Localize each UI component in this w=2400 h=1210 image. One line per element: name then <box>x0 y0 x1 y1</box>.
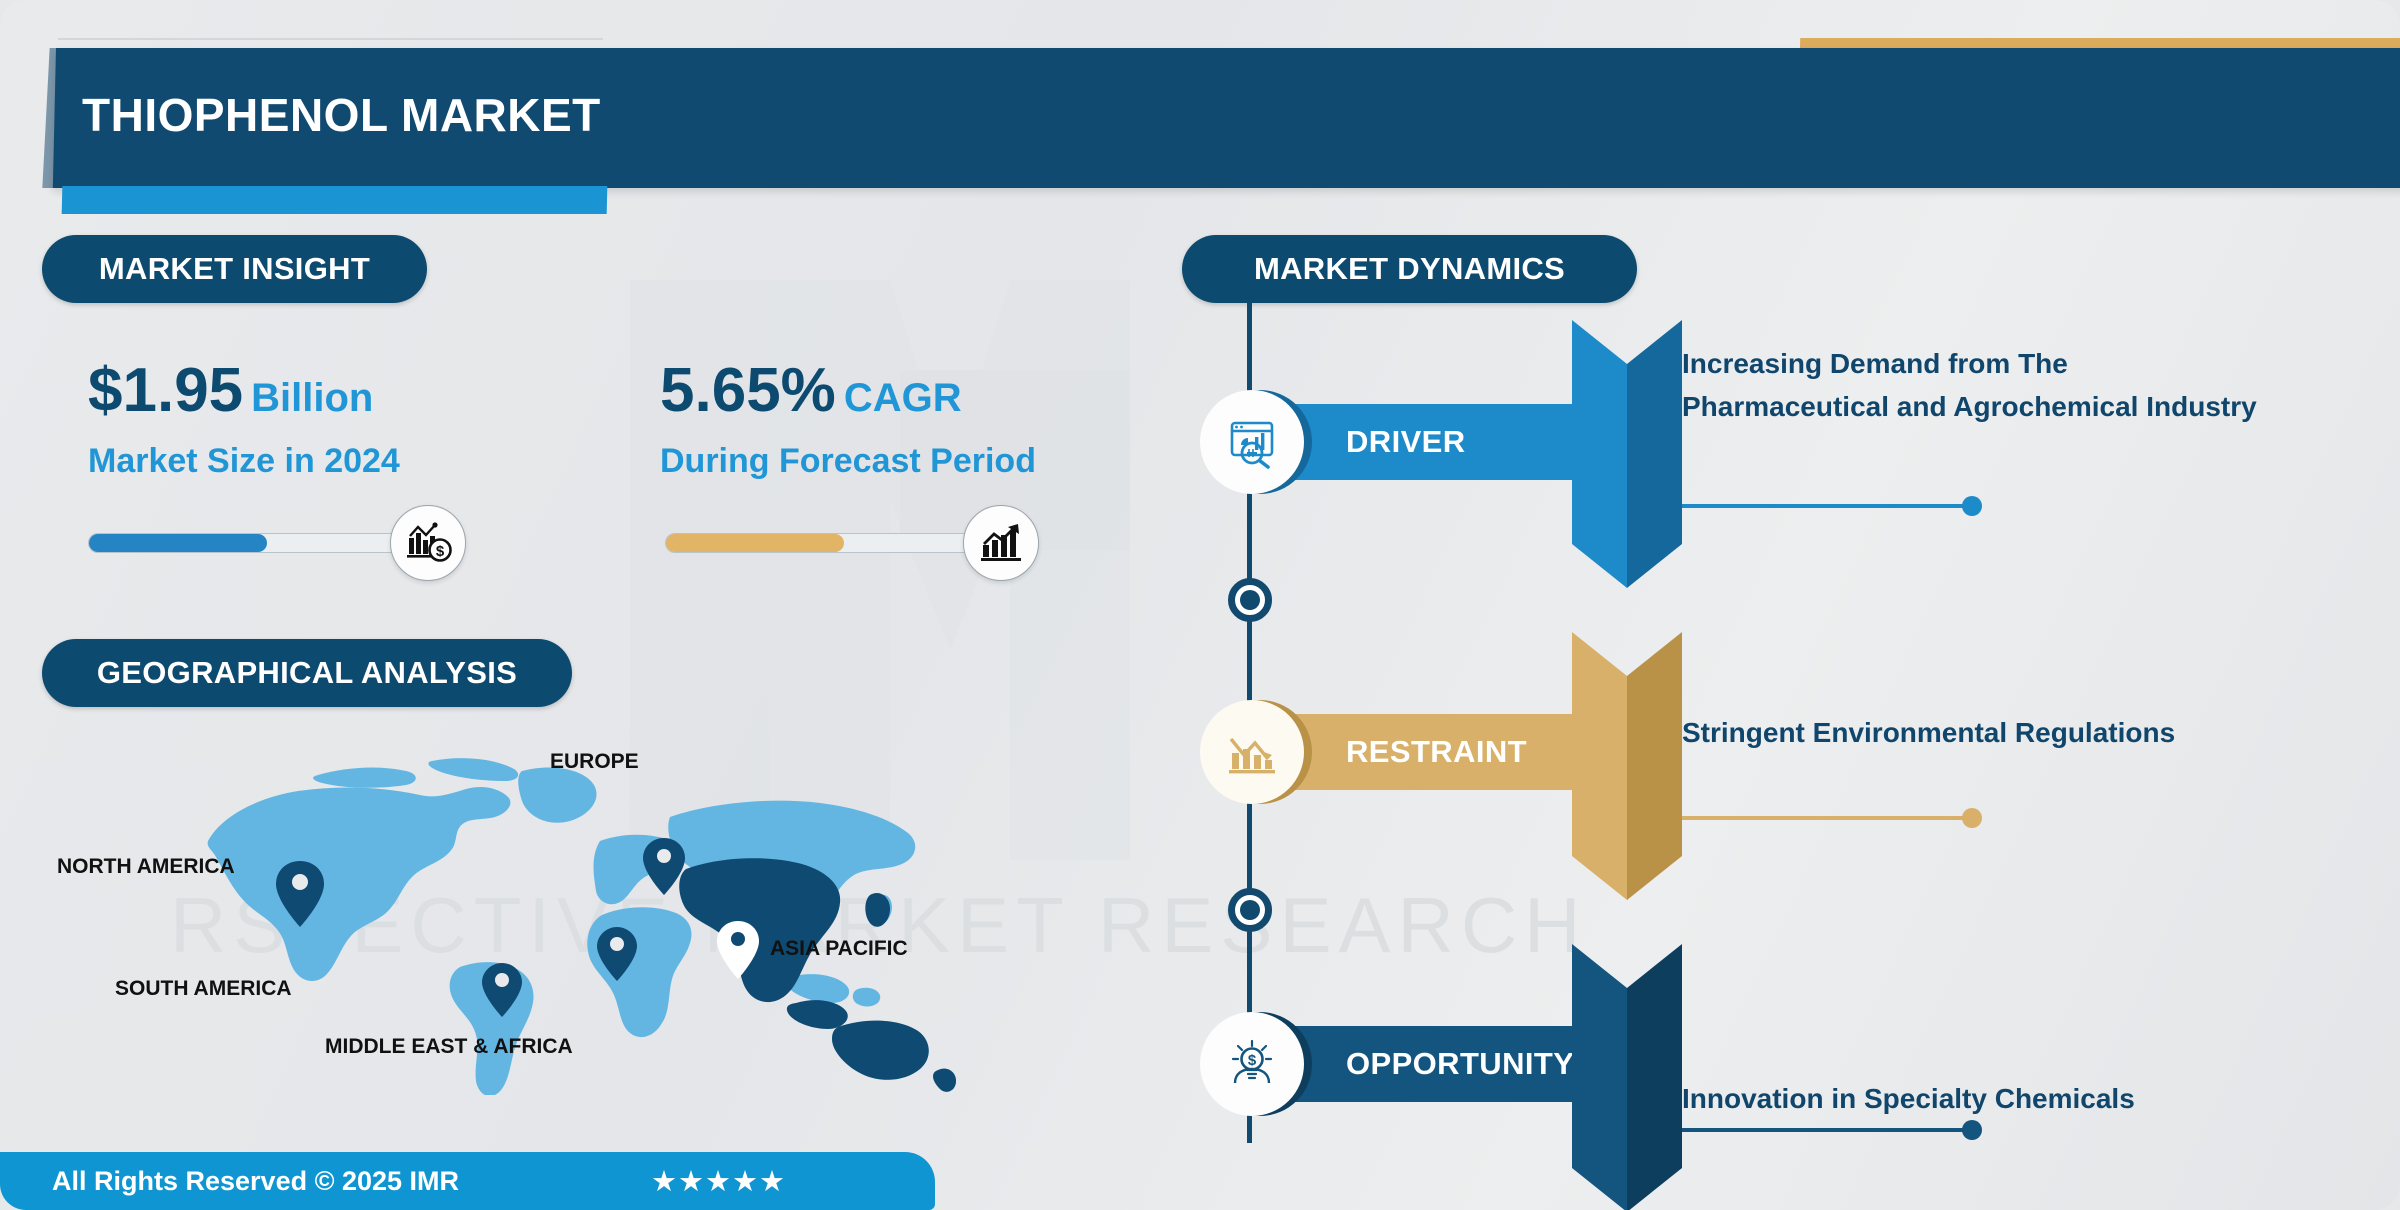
restraint-connector-line <box>1682 816 1972 820</box>
world-map-svg <box>170 745 1000 1095</box>
driver-bar: DRIVER <box>1222 404 1630 480</box>
market-size-progress-fill <box>89 534 267 552</box>
opportunity-connector-line <box>1682 1128 1972 1132</box>
map-label-middle-east-africa: MIDDLE EAST & AFRICA <box>325 1035 573 1059</box>
kpi-cagr-caption: During Forecast Period <box>660 442 1036 481</box>
declining-bar-chart-icon <box>1200 700 1304 804</box>
opportunity-label: OPPORTUNITY <box>1346 1046 1574 1082</box>
market-size-progress-track <box>88 533 433 553</box>
market-dynamics-heading: MARKET DYNAMICS <box>1182 235 1637 303</box>
kpi-market-size-number: $1.95 <box>88 356 243 425</box>
kpi-cagr-value: 5.65%CAGR <box>660 360 1036 422</box>
kpi-market-size-caption: Market Size in 2024 <box>88 442 400 481</box>
report-search-icon <box>1200 390 1304 494</box>
growth-arrow-chart-icon <box>963 505 1039 581</box>
page-title: THIOPHENOL MARKET <box>82 88 601 142</box>
restraint-bar: RESTRAINT <box>1222 714 1630 790</box>
kpi-market-size-value: $1.95Billion <box>88 360 400 422</box>
opportunity-text: Innovation in Specialty Chemicals <box>1682 1078 2322 1121</box>
driver-text: Increasing Demand from The Pharmaceutica… <box>1682 343 2282 428</box>
world-map: NORTH AMERICA EUROPE ASIA PACIFIC SOUTH … <box>170 745 1000 1095</box>
geographical-analysis-heading: GEOGRAPHICAL ANALYSIS <box>42 639 572 707</box>
restraint-connector-dot <box>1962 808 1982 828</box>
kpi-cagr-unit: CAGR <box>844 376 962 420</box>
cagr-progress-track <box>665 533 1010 553</box>
footer-star-rating: ★★★★★ <box>651 1164 786 1199</box>
market-insight-heading: MARKET INSIGHT <box>42 235 427 303</box>
lightbulb-dollar-icon: $ <box>1200 1012 1304 1116</box>
kpi-market-size: $1.95Billion Market Size in 2024 <box>88 360 400 481</box>
driver-chevron <box>1572 320 1682 588</box>
footer-bar: All Rights Reserved © 2025 IMR ★★★★★ <box>0 1152 935 1210</box>
svg-text:$: $ <box>436 543 445 560</box>
header-hairline <box>58 38 603 40</box>
timeline-node-1 <box>1228 578 1272 622</box>
infographic-page: RSPECTIVE MARKET RESEARCH THIOPHENOL MAR… <box>0 0 2400 1210</box>
driver-label: DRIVER <box>1346 424 1466 460</box>
map-label-north-america: NORTH AMERICA <box>57 855 235 879</box>
opportunity-chevron <box>1572 944 1682 1210</box>
timeline-node-2 <box>1228 888 1272 932</box>
restraint-text: Stringent Environmental Regulations <box>1682 712 2242 755</box>
bar-chart-dollar-icon: $ <box>390 505 466 581</box>
svg-text:$: $ <box>1248 1052 1257 1069</box>
restraint-chevron <box>1572 632 1682 900</box>
kpi-cagr-number: 5.65% <box>660 356 836 425</box>
opportunity-connector-dot <box>1962 1120 1982 1140</box>
map-label-europe: EUROPE <box>550 750 639 774</box>
driver-connector-line <box>1682 504 1972 508</box>
opportunity-bar: $ OPPORTUNITY <box>1222 1026 1630 1102</box>
kpi-cagr: 5.65%CAGR During Forecast Period <box>660 360 1036 481</box>
kpi-market-size-unit: Billion <box>251 376 373 420</box>
footer-copyright: All Rights Reserved © 2025 IMR <box>52 1166 459 1197</box>
cagr-progress-fill <box>666 534 844 552</box>
restraint-label: RESTRAINT <box>1346 734 1527 770</box>
header-accent-strip <box>62 186 608 214</box>
map-label-south-america: SOUTH AMERICA <box>115 977 292 1001</box>
map-pin-europe <box>643 838 685 895</box>
driver-connector-dot <box>1962 496 1982 516</box>
map-label-asia-pacific: ASIA PACIFIC <box>770 937 908 961</box>
